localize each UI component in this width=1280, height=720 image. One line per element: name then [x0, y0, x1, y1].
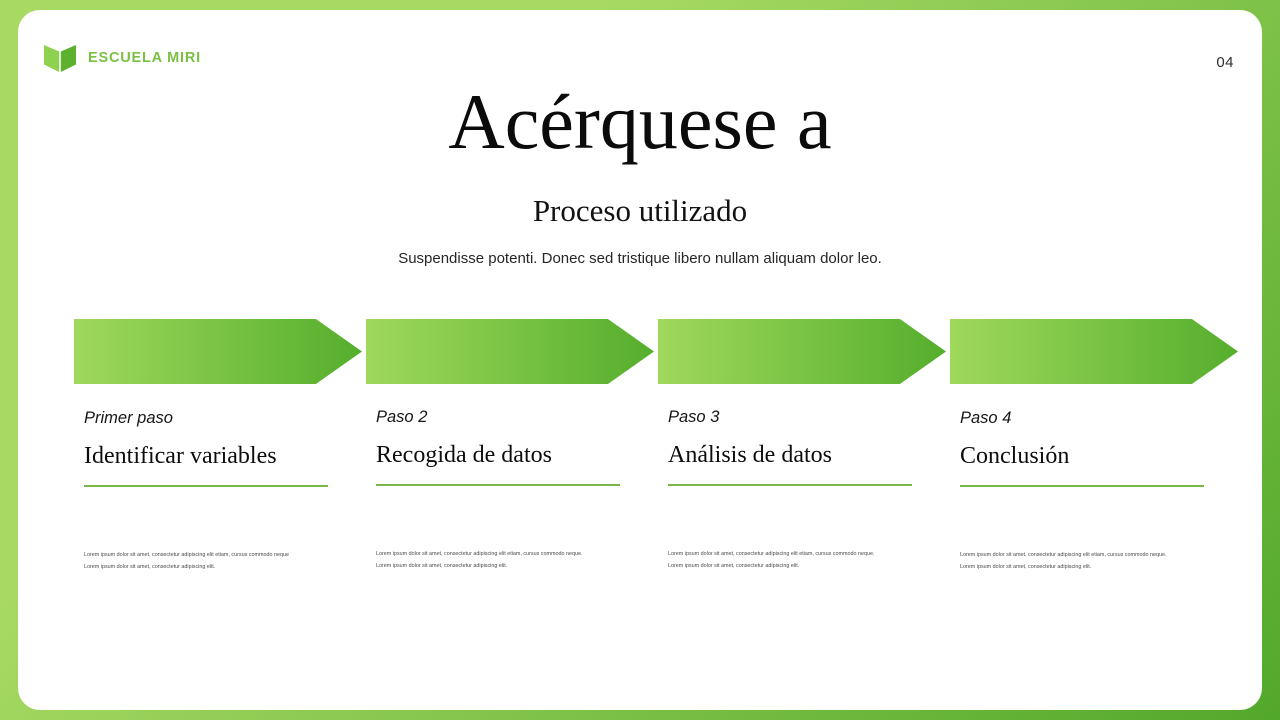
step-kicker: Primer paso: [84, 392, 346, 429]
slide-card: ESCUELA MIRI 04 Acérquese a Proceso util…: [18, 10, 1262, 710]
page-lead-text: Suspendisse potenti. Donec sed tristique…: [18, 250, 1262, 267]
step-body-line: Lorem ipsum dolor sit amet, consectetur …: [84, 549, 316, 562]
step-kicker: Paso 3: [668, 392, 930, 428]
process-steps: Primer paso Identificar variables Lorem …: [56, 392, 1246, 612]
process-arrow-3: [658, 319, 946, 384]
step-item: Paso 4 Conclusión Lorem ipsum dolor sit …: [960, 392, 1222, 574]
process-arrow-row: [56, 312, 1246, 392]
step-body: Lorem ipsum dolor sit amet, consectetur …: [376, 548, 608, 573]
step-body-line: Lorem ipsum dolor sit amet, consectetur …: [960, 549, 1192, 562]
brand: ESCUELA MIRI: [44, 43, 201, 73]
step-item: Primer paso Identificar variables Lorem …: [84, 392, 346, 574]
page-title: Acérquese a: [18, 83, 1262, 161]
step-kicker: Paso 4: [960, 392, 1222, 429]
step-divider: [668, 484, 912, 486]
step-body-line: Lorem ipsum dolor sit amet, consectetur …: [376, 560, 608, 573]
step-body: Lorem ipsum dolor sit amet, consectetur …: [668, 548, 900, 573]
process-arrow-2: [366, 319, 654, 384]
open-book-icon: [44, 43, 76, 73]
step-title: Análisis de datos: [668, 442, 930, 468]
step-body-line: Lorem ipsum dolor sit amet, consectetur …: [376, 548, 608, 561]
step-divider: [960, 485, 1204, 487]
page-number: 04: [1216, 54, 1234, 71]
step-divider: [84, 485, 328, 487]
step-kicker: Paso 2: [376, 392, 638, 428]
page-subtitle: Proceso utilizado: [18, 193, 1262, 229]
step-body: Lorem ipsum dolor sit amet, consectetur …: [960, 549, 1192, 574]
step-item: Paso 3 Análisis de datos Lorem ipsum dol…: [668, 392, 930, 573]
step-title: Recogida de datos: [376, 442, 638, 468]
step-body: Lorem ipsum dolor sit amet, consectetur …: [84, 549, 316, 574]
process-arrow-4: [950, 319, 1238, 384]
brand-name: ESCUELA MIRI: [88, 50, 201, 66]
step-body-line: Lorem ipsum dolor sit amet, consectetur …: [960, 561, 1192, 574]
step-item: Paso 2 Recogida de datos Lorem ipsum dol…: [376, 392, 638, 573]
step-title: Identificar variables: [84, 443, 346, 469]
step-divider: [376, 484, 620, 486]
process-arrow-1: [74, 319, 362, 384]
step-body-line: Lorem ipsum dolor sit amet, consectetur …: [668, 560, 900, 573]
step-body-line: Lorem ipsum dolor sit amet, consectetur …: [668, 548, 900, 561]
step-body-line: Lorem ipsum dolor sit amet, consectetur …: [84, 561, 316, 574]
step-title: Conclusión: [960, 443, 1222, 469]
